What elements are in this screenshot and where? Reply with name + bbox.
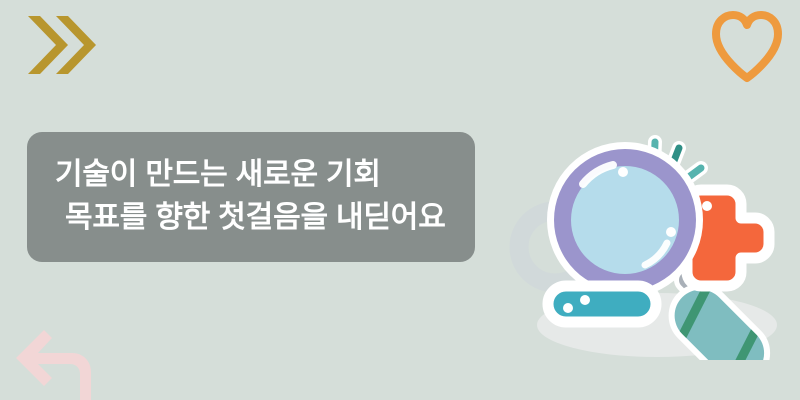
heart-outline-icon xyxy=(706,6,788,86)
promo-banner: 기술이 만드는 새로운 기회 목표를 향한 첫걸음을 내딛어요 xyxy=(0,0,800,400)
lens-dot-bottom xyxy=(666,227,676,237)
pill-shape xyxy=(548,286,656,322)
double-chevron-right-icon xyxy=(26,14,96,76)
headline-line-1: 기술이 만드는 새로운 기회 xyxy=(55,154,449,197)
headline-line-2: 목표를 향한 첫걸음을 내딛어요 xyxy=(55,197,449,240)
undo-arrow-icon xyxy=(8,318,104,400)
headline-panel: 기술이 만드는 새로운 기회 목표를 향한 첫걸음을 내딛어요 xyxy=(27,132,475,262)
magnifying-glass-illustration xyxy=(505,110,800,360)
lens-dot-top xyxy=(618,167,628,177)
